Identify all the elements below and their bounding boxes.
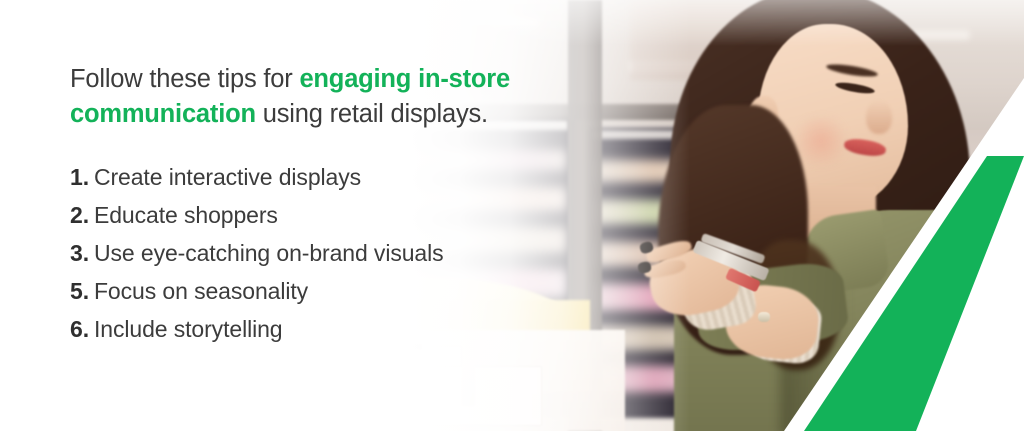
list-item-number: 6. bbox=[70, 316, 89, 342]
finger-ring bbox=[758, 312, 770, 322]
list-item-number: 2. bbox=[70, 202, 89, 228]
headline-tail: using retail displays. bbox=[256, 100, 488, 128]
promo-banner: Follow these tips for engaging in-store … bbox=[0, 0, 1024, 431]
headline-lead: Follow these tips for bbox=[70, 65, 299, 93]
tips-list: 1.Create interactive displays 2.Educate … bbox=[70, 158, 610, 348]
list-item-label: Use eye-catching on-brand visuals bbox=[94, 240, 444, 266]
list-item-number: 1. bbox=[70, 164, 89, 190]
list-item-label: Create interactive displays bbox=[94, 164, 361, 190]
list-item-label: Educate shoppers bbox=[94, 202, 278, 228]
photo-top-fade bbox=[330, 0, 1024, 46]
list-item: 6.Include storytelling bbox=[70, 310, 610, 348]
list-item-label: Focus on seasonality bbox=[94, 278, 308, 304]
list-item-number: 3. bbox=[70, 240, 89, 266]
list-item: 5.Focus on seasonality bbox=[70, 272, 610, 310]
list-item: 3.Use eye-catching on-brand visuals bbox=[70, 234, 610, 272]
nose bbox=[866, 100, 892, 134]
list-item: 2.Educate shoppers bbox=[70, 196, 610, 234]
page-title: Follow these tips for engaging in-store … bbox=[70, 62, 610, 132]
list-item-label: Include storytelling bbox=[94, 316, 283, 342]
banner-text: Follow these tips for engaging in-store … bbox=[70, 62, 610, 348]
list-item: 1.Create interactive displays bbox=[70, 158, 610, 196]
list-item-number: 5. bbox=[70, 278, 89, 304]
